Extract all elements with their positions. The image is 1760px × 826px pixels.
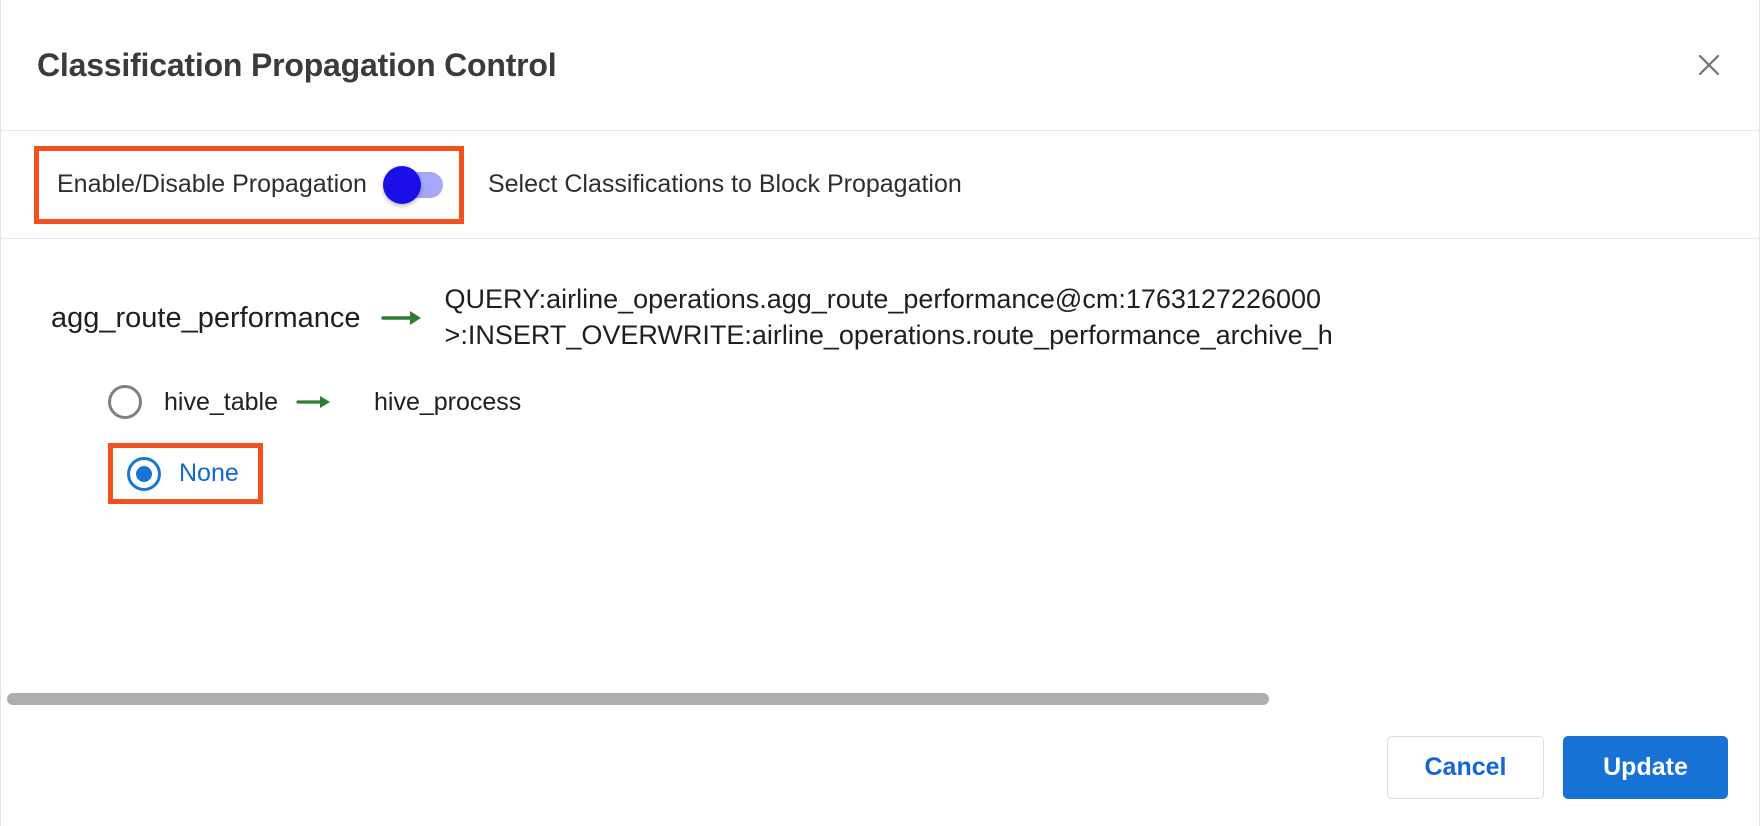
lineage-target-line-1: QUERY:airline_operations.agg_route_perfo… (445, 282, 1333, 318)
lineage-source-name: agg_route_performance (51, 302, 361, 335)
dialog-body: agg_route_performance QUERY:airline_oper… (1, 239, 1759, 708)
radio-hive-table-hive-process[interactable] (108, 385, 142, 419)
page-title: Classification Propagation Control (37, 47, 556, 84)
horizontal-scrollbar-thumb[interactable] (7, 693, 1269, 705)
arrow-right-icon (296, 392, 334, 412)
dialog-header: Classification Propagation Control (1, 0, 1759, 131)
propagation-toggle-switch[interactable] (385, 172, 443, 198)
lineage-target-text: QUERY:airline_operations.agg_route_perfo… (445, 282, 1333, 354)
propagation-toggle-row: Enable/Disable Propagation Select Classi… (1, 131, 1759, 239)
enable-disable-propagation-label: Enable/Disable Propagation (57, 170, 367, 199)
option-label-none: None (179, 459, 239, 488)
radio-none[interactable] (127, 457, 161, 491)
classification-propagation-dialog: Classification Propagation Control Enabl… (0, 0, 1760, 826)
select-classifications-label: Select Classifications to Block Propagat… (488, 170, 962, 199)
enable-disable-propagation-group[interactable]: Enable/Disable Propagation (34, 146, 464, 224)
option-label-right: hive_process (374, 388, 521, 417)
cancel-button[interactable]: Cancel (1387, 736, 1544, 799)
dialog-footer: Cancel Update (1, 708, 1759, 826)
option-row-hive-table-hive-process[interactable]: hive_table hive_process (1, 373, 1759, 431)
arrow-right-icon (381, 307, 425, 329)
option-row-none[interactable]: None (108, 443, 263, 504)
close-icon[interactable] (1689, 45, 1729, 85)
lineage-row: agg_route_performance QUERY:airline_oper… (1, 263, 1759, 373)
horizontal-scrollbar[interactable] (1, 690, 1759, 708)
lineage-target-line-2: >:INSERT_OVERWRITE:airline_operations.ro… (445, 318, 1333, 354)
toggle-knob (383, 166, 421, 204)
option-label-left: hive_table (164, 388, 278, 417)
update-button[interactable]: Update (1563, 736, 1728, 799)
